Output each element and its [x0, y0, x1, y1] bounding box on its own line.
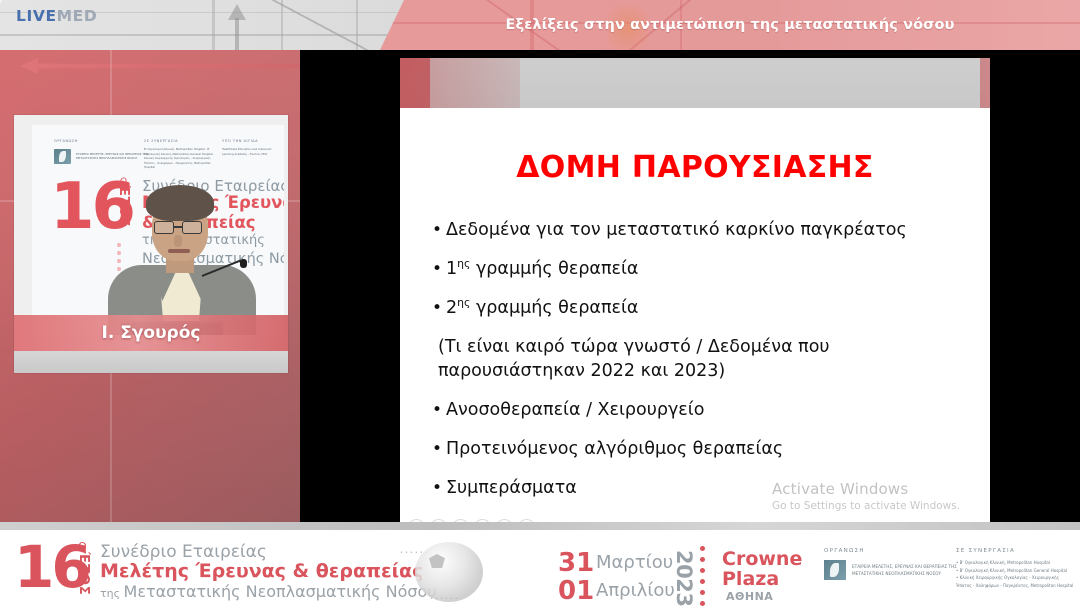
video-stage[interactable]: ΔΟΜΗ ΠΑΡΟΥΣΙΑΣΗΣ • Δεδομένα για τον μετα… — [0, 50, 1080, 522]
bullet-rest: γραμμής θεραπεία — [470, 259, 638, 279]
banner-coop-list: • Β' Ογκολογική Κλινική, Metropolitan Ho… — [956, 559, 1076, 589]
letterbox-right — [990, 50, 1080, 522]
list-item: • 1ης γραμμής θεραπεία — [432, 257, 962, 282]
coop-item: • Β' Ογκολογική Κλινική, Metropolitan Ho… — [956, 559, 1076, 567]
banner-org-heading: ΟΡΓΑΝΩΣΗ — [824, 548, 865, 554]
list-item: • Προτεινόμενος αλγόριθμος θεραπείας — [432, 437, 962, 462]
decor-line-v3 — [356, 0, 358, 50]
bullet-text: 2ης γραμμής θεραπεία — [446, 296, 962, 321]
session-title-banner: Εξελίξεις στην αντιμετώπιση της μεταστατ… — [380, 0, 1080, 50]
pip-backdrop-slide: ΟΡΓΑΝΩΣΗ ΣΕ ΣΥΝΕΡΓΑΣΙΑ ΥΠΟ ΤΗΝ ΑΙΓΙΔΑ ΕΤ… — [32, 125, 284, 335]
banner-top-strip — [0, 522, 1080, 530]
banner-date2-day: 01 — [558, 576, 594, 606]
pip-auspices-heading: ΥΠΟ ΤΗΝ ΑΙΓΙΔΑ — [222, 139, 258, 143]
decor-line-v2 — [281, 0, 283, 50]
banner-title-line3-prefix: της — [100, 587, 124, 600]
speaker-video-pip[interactable]: ΟΡΓΑΝΩΣΗ ΣΕ ΣΥΝΕΡΓΑΣΙΑ ΥΠΟ ΤΗΝ ΑΙΓΙΔΑ ΕΤ… — [14, 115, 288, 373]
bullet-marker: • — [432, 296, 446, 321]
decor-line-v1 — [212, 0, 215, 50]
banner-year: 2023 — [672, 550, 696, 606]
banner-org-text: ΕΤΑΙΡΕΙΑ ΜΕΛΕΤΗΣ, ΕΡΕΥΝΑΣ ΚΑΙ ΘΕΡΑΠΕΙΑΣ … — [852, 563, 962, 577]
livemed-logo-med: MED — [57, 7, 98, 25]
slide-bullet-list: • Δεδομένα για τον μεταστατικό καρκίνο π… — [432, 218, 962, 515]
bullet-ordinal: 2 — [446, 298, 457, 318]
list-item: (Τι είναι καιρό τώρα γνωστό / Δεδομένα π… — [432, 335, 962, 385]
speaker-mouth — [168, 249, 190, 253]
speaker-hair — [146, 185, 214, 221]
banner-title-line2: Μελέτης Έρευνας & θεραπείας — [100, 560, 423, 582]
decor-arrow-stem — [235, 18, 239, 50]
slide-title: ΔΟΜΗ ΠΑΡΟΥΣΙΑΣΗΣ — [400, 150, 990, 185]
banner-title-line3: της Μεταστατικής Νεοπλασματικής Νόσου — [100, 582, 437, 601]
bullet-text: Προτεινόμενος αλγόριθμος θεραπείας — [446, 437, 962, 462]
speaker-name: Ι. Σγουρός — [102, 323, 201, 343]
bullet-ordinal: 1 — [446, 259, 457, 279]
organizer-logo-icon — [824, 560, 846, 580]
bullet-marker: • — [432, 218, 446, 243]
list-item: • Συμπεράσματα — [432, 476, 962, 501]
bullet-marker: • — [432, 257, 446, 282]
pip-coop-heading: ΣΕ ΣΥΝΕΡΓΑΣΙΑ — [144, 139, 178, 143]
pip-auspices-text: HealthCare Education and Advanced Learni… — [222, 147, 282, 156]
banner-title-line3-main: Μεταστατικής Νεοπλασματικής Νόσου — [124, 582, 437, 601]
banner-edition-etos: ΈΤΟΣ — [76, 552, 91, 596]
banner-coop-heading: ΣΕ ΣΥΝΕΡΓΑΣΙΑ — [956, 548, 1015, 554]
banner-dots-separator — [700, 546, 705, 608]
coop-item: • Κλινική Χειρουργικής Ογκολογίας - Χειρ… — [956, 574, 1076, 582]
speaker-glasses-right — [182, 221, 202, 234]
banner-title-line1: Συνέδριο Εταιρείας — [100, 542, 267, 562]
coop-item: • Β' Ογκολογική Κλινική, Metropolitan Ge… — [956, 567, 1076, 575]
bullet-marker: • — [432, 398, 446, 423]
bullet-text: Ανοσοθεραπεία / Χειρουργείο — [446, 398, 962, 423]
list-item: • Δεδομένα για τον μεταστατικό καρκίνο π… — [432, 218, 962, 243]
bullet-marker: • — [432, 437, 446, 462]
pip-org-logo-icon — [54, 149, 71, 164]
coop-item: Ήπατος - Χοληφόρων - Παγκρέατος, Metropo… — [956, 582, 1076, 590]
banner-sphere-graphic — [415, 542, 483, 602]
bullet-text: (Τι είναι καιρό τώρα γνωστό / Δεδομένα π… — [438, 335, 962, 385]
letterbox-top — [300, 50, 1080, 58]
speaker-nose — [174, 235, 182, 247]
list-item: • Ανοσοθεραπεία / Χειρουργείο — [432, 398, 962, 423]
letterbox-left — [300, 50, 400, 522]
speaker-glasses-left — [154, 221, 174, 234]
microphone-icon — [240, 259, 247, 268]
bullet-text: Συμπεράσματα — [446, 476, 962, 501]
pip-coop-text: Β' Ογκολογική Κλινική, Metropolitan Hosp… — [144, 147, 216, 170]
banner-date1-month: Μαρτίου — [596, 552, 673, 573]
pip-footer-strip — [14, 351, 288, 373]
livemed-logo-live: LIVE — [16, 7, 57, 25]
banner-date2-month: Απριλίου — [596, 580, 675, 601]
bullet-marker: • — [432, 476, 446, 501]
bullet-rest: γραμμής θεραπεία — [470, 298, 638, 318]
venue-name-line2: Plaza — [722, 568, 779, 590]
bullet-text: Δεδομένα για τον μεταστατικό καρκίνο παγ… — [446, 218, 962, 243]
venue-city: ΑΘΗΝΑ — [726, 590, 773, 603]
bullet-ordinal-suffix: ης — [457, 257, 470, 270]
bullet-ordinal-suffix: ης — [457, 296, 470, 309]
banner-date1-day: 31 — [558, 548, 594, 578]
pip-org-heading: ΟΡΓΑΝΩΣΗ — [54, 139, 78, 143]
banner-dots-decor-2: •••••• — [430, 596, 460, 602]
presentation-slide[interactable]: ΔΟΜΗ ΠΑΡΟΥΣΙΑΣΗΣ • Δεδομένα για τον μετα… — [400, 108, 990, 522]
bullet-text: 1ης γραμμής θεραπεία — [446, 257, 962, 282]
venue-name-line1: Crowne — [722, 548, 802, 570]
speaker-glasses-bridge — [174, 226, 182, 228]
session-title: Εξελίξεις στην αντιμετώπιση της μεταστατ… — [380, 0, 1080, 50]
list-item: • 2ης γραμμής θεραπεία — [432, 296, 962, 321]
app-root: Εξελίξεις στην αντιμετώπιση της μεταστατ… — [0, 0, 1080, 608]
pip-edition-etos: ΈΤΟΣ — [116, 185, 131, 227]
livemed-logo[interactable]: LIVEMED — [16, 7, 97, 25]
pip-dots-decor — [117, 243, 121, 275]
speaker-name-plate: Ι. Σγουρός — [14, 315, 288, 351]
